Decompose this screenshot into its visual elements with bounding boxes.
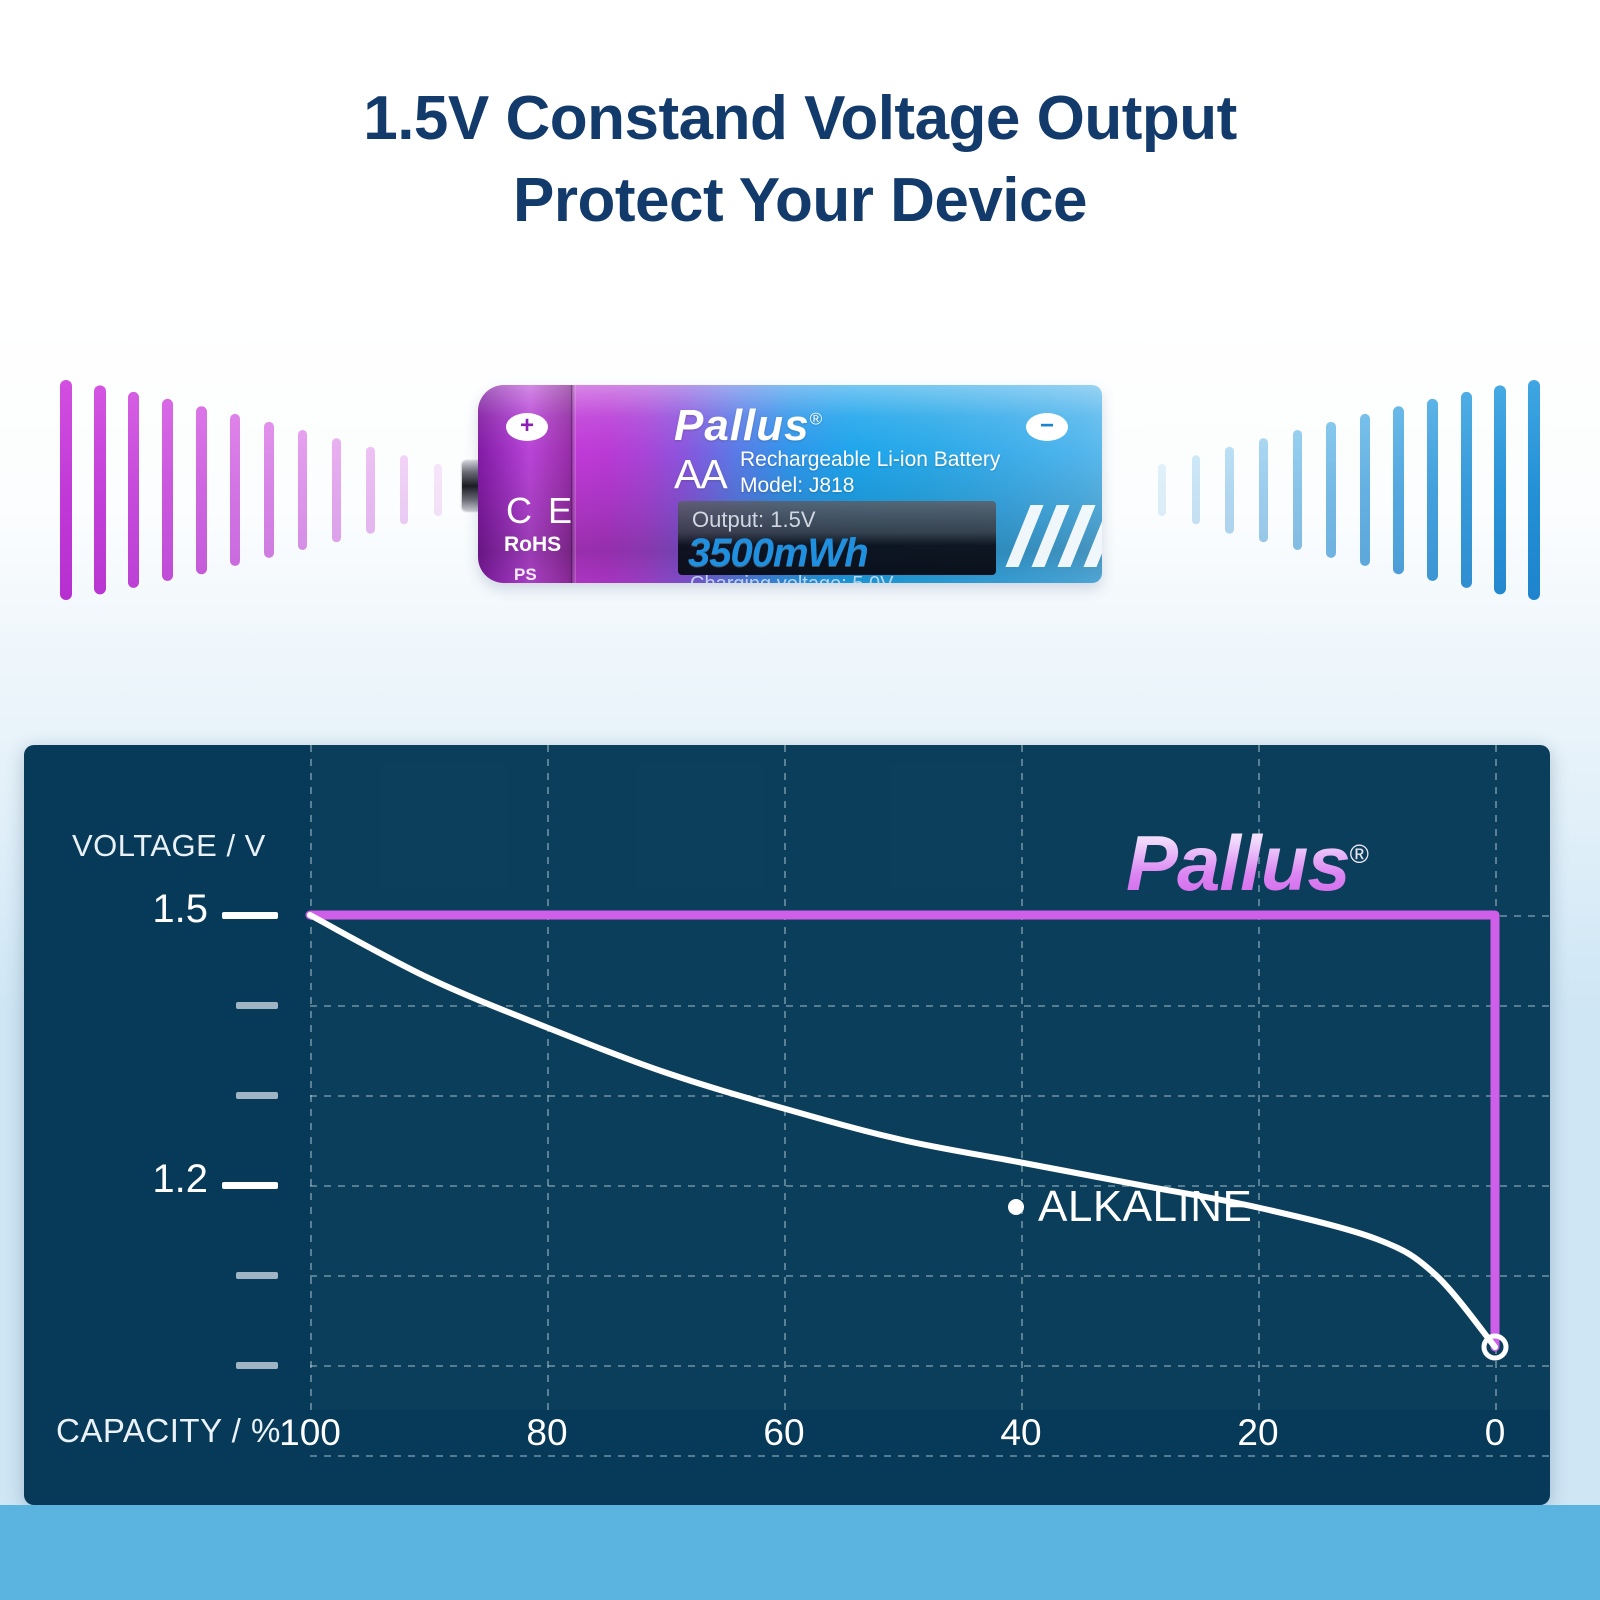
hero-section: 1.5V Constand Voltage Output Protect You… xyxy=(0,0,1600,1505)
plus-glyph: + xyxy=(520,414,534,438)
wave-bar xyxy=(1259,438,1268,542)
wave-bar xyxy=(298,430,307,550)
ce-mark-icon: C E xyxy=(506,490,575,532)
series-line-alkaline xyxy=(310,915,1495,1347)
alkaline-dot-icon xyxy=(1008,1199,1024,1215)
rohs-label: RoHS xyxy=(504,533,561,557)
y-tick-minor xyxy=(236,1092,278,1099)
y-tick-label: 1.5 xyxy=(68,887,208,932)
battery-type-line: Rechargeable Li-ion Battery xyxy=(740,447,1000,473)
wave-bar xyxy=(196,406,207,574)
wave-bar xyxy=(400,455,408,524)
wave-bar xyxy=(94,385,106,594)
wave-bar xyxy=(1192,455,1200,524)
wave-bar xyxy=(1494,385,1506,594)
wave-bar xyxy=(332,438,341,542)
y-tick-label: 1.2 xyxy=(68,1157,208,1202)
battery-brand-logo: Pallus® xyxy=(674,401,823,451)
title-line-1: 1.5V Constand Voltage Output xyxy=(0,78,1600,160)
x-axis-label: CAPACITY / % xyxy=(56,1412,281,1450)
bottom-color-band xyxy=(0,1505,1600,1600)
chart-brand-logo: Pallus® xyxy=(1126,818,1368,909)
ps-label: PS xyxy=(514,565,537,583)
battery-output-text: Output: 1.5V xyxy=(692,507,816,533)
battery-brand-name: Pallus xyxy=(674,401,810,450)
wave-bar xyxy=(1158,464,1166,516)
registered-mark-icon: ® xyxy=(810,409,824,428)
sound-wave-left xyxy=(60,380,480,600)
y-tick-minor xyxy=(236,1272,278,1279)
battery-charging-text: Charging voltage: 5.0V xyxy=(690,573,893,583)
wave-bar xyxy=(1360,414,1370,566)
battery-size-label: AA xyxy=(674,451,727,498)
alkaline-label: ALKALINE xyxy=(1038,1182,1252,1232)
series-line-pallus xyxy=(310,915,1495,1347)
x-tick-label: 20 xyxy=(1198,1412,1318,1454)
alkaline-annotation: ALKALINE xyxy=(1008,1182,1252,1232)
wave-bar xyxy=(162,399,173,581)
minus-glyph: − xyxy=(1040,414,1054,438)
wave-bar xyxy=(128,392,139,588)
x-tick-label: 40 xyxy=(961,1412,1081,1454)
y-axis-label: VOLTAGE / V xyxy=(72,828,266,864)
wave-bar xyxy=(434,464,442,516)
y-tick-major xyxy=(222,912,278,919)
battery-body: + − Pallus® AA Rechargeable Li-ion Batte… xyxy=(478,385,1102,583)
battery-model-line: Model: J818 xyxy=(740,473,1000,499)
chart-registered-mark-icon: ® xyxy=(1350,839,1368,869)
x-tick-label: 80 xyxy=(487,1412,607,1454)
x-tick-label: 100 xyxy=(250,1412,370,1454)
y-tick-minor xyxy=(236,1002,278,1009)
x-tick-label: 0 xyxy=(1435,1412,1555,1454)
wave-bar xyxy=(1427,399,1438,581)
wave-bar xyxy=(1393,406,1404,574)
wave-bar xyxy=(1293,430,1302,550)
page-title: 1.5V Constand Voltage Output Protect You… xyxy=(0,78,1600,243)
wave-bar xyxy=(1225,447,1234,534)
title-line-2: Protect Your Device xyxy=(0,160,1600,242)
x-tick-label: 60 xyxy=(724,1412,844,1454)
battery-description: Rechargeable Li-ion Battery Model: J818 xyxy=(740,447,1000,498)
wave-bar xyxy=(1326,422,1336,558)
y-tick-major xyxy=(222,1182,278,1189)
wave-bar xyxy=(60,380,72,600)
battery-capacity-text: 3500mWh xyxy=(688,531,868,576)
wave-bar xyxy=(366,447,375,534)
wave-bar xyxy=(1528,380,1540,600)
sound-wave-right xyxy=(1120,380,1540,600)
wave-bar xyxy=(230,414,240,566)
battery-ring xyxy=(571,385,576,583)
minus-terminal-icon: − xyxy=(1026,413,1068,441)
wave-bar xyxy=(1461,392,1472,588)
y-tick-minor xyxy=(236,1362,278,1369)
plus-terminal-icon: + xyxy=(506,413,548,441)
wave-bar xyxy=(264,422,274,558)
chart-brand-name: Pallus xyxy=(1126,819,1350,907)
battery-illustration: + − Pallus® AA Rechargeable Li-ion Batte… xyxy=(462,385,1102,583)
